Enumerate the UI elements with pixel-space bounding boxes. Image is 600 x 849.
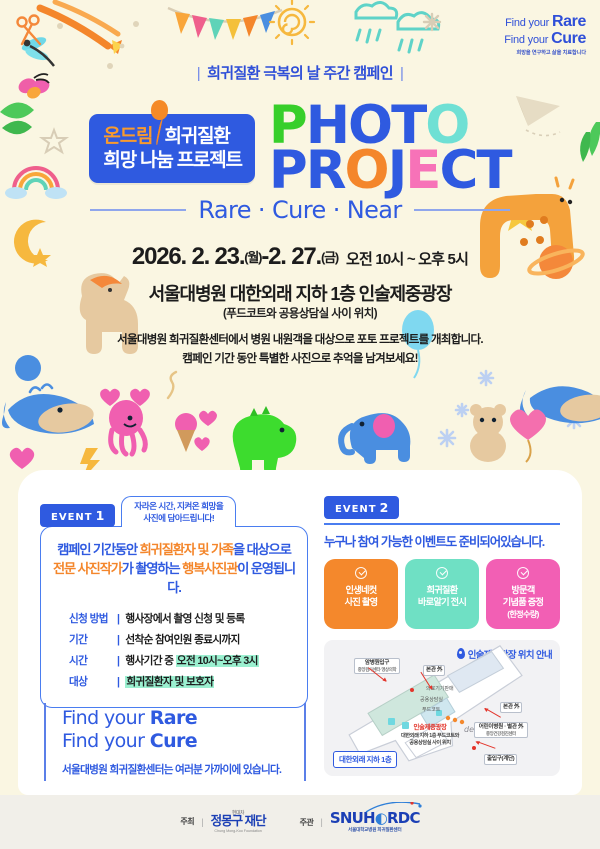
- map-label-3: 어린이병원 · 별관 外 중앙건강검진센터: [474, 722, 528, 738]
- map-label-0: 암병원입구 중앙검사센터·영상의학: [354, 658, 400, 674]
- event1-detail-highlight: 오전 10시~오후 3시: [176, 655, 259, 667]
- footer-organizer: 주관 | SNUH◐RDC 서울대학교병원 희귀질환센터: [300, 811, 420, 833]
- event2-chip: 희귀질환바로알기 전시: [405, 559, 479, 629]
- kicker-text: 희귀질환 극복의 날 주간 캠페인: [207, 65, 393, 82]
- kicker-bar-left: |: [197, 65, 200, 82]
- event1-detail-row: 시간|행사기간 중 오전 10시~오후 3시: [69, 651, 297, 672]
- footer: 주최 | 현대차 정몽구 재단 Chung Mong-Koo Foundatio…: [0, 795, 600, 849]
- event1-detail-separator: |: [117, 672, 119, 693]
- map-label-4-text: 출입구(계단): [487, 756, 514, 762]
- event1-detail-key: 신청 방법: [69, 609, 115, 630]
- ondream-line-1-rest: 희귀질환: [165, 126, 230, 147]
- octopus-doodle: [109, 400, 145, 454]
- map-label-2-text: 본관 外: [503, 704, 519, 710]
- title-row: 온드림 희귀질환 희망 나눔 프로젝트 PHOTO PROJECT: [0, 104, 600, 193]
- sun-doodle: [270, 0, 314, 44]
- slogan-line-1: Find your Rare: [62, 707, 290, 730]
- event1-detail-key: 대상: [69, 672, 115, 693]
- wordmark-letter-o-2: O: [345, 149, 388, 194]
- event2-column: EVENT2 누구나 참여 가능한 이벤트도 준비되어있습니다. 인생네컷사진 …: [324, 496, 560, 795]
- ondream-line-1: 온드림 희귀질환: [103, 125, 241, 148]
- snuh-swoosh-icon: [362, 802, 426, 814]
- event1-lead: 캠페인 기간동안 희귀질환자 및 가족을 대상으로 전문 사진작가가 촬영하는 …: [51, 540, 297, 597]
- map-label-3-text: 어린이병원 · 별관 外: [479, 724, 524, 730]
- slogan-line-3: 서울대병원 희귀질환센터는 여러분 가까이에 있습니다.: [62, 762, 290, 777]
- event1-badge-label: EVENT: [51, 512, 93, 523]
- balloon-icon: [151, 100, 168, 120]
- map-floor-tag: 대한외래 지하 1층: [333, 751, 397, 768]
- map-grey-1: 공용상담실: [420, 697, 443, 703]
- event1-badge-number: 1: [96, 508, 106, 523]
- blurb-line-2: 캠페인 기간 동안 특별한 사진으로 추억을 남겨보세요!: [182, 353, 417, 365]
- event1-lead-hi-2: 전문 사진작가: [53, 561, 122, 576]
- event1-tab-line-2: 사진에 담아드립니다!: [134, 513, 223, 525]
- slogan-line-1-bold: Rare: [150, 707, 197, 729]
- event2-chip-line-2: 기념품 증정: [488, 596, 558, 608]
- ondream-logo-box: 온드림 희귀질환 희망 나눔 프로젝트: [89, 114, 254, 182]
- event1-column: EVENT1 자라온 시간, 지켜온 희망을 사진에 담아드립니다! 캠페인 기…: [40, 496, 308, 795]
- event2-chip-line-3: (한정수량): [488, 609, 558, 620]
- event1-detail-value: 행사기간 중 오전 10시~오후 3시: [125, 651, 258, 672]
- snuh-sub: 서울대학교병원 희귀질환센터: [330, 828, 420, 833]
- brand-line-2-bold: Cure: [551, 30, 586, 47]
- slogan-line-1-light: Find your: [62, 707, 144, 729]
- event1-lead-1: 캠페인 기간동안: [57, 542, 137, 557]
- map-highlight: 인술제중광장 대한외래 지하 1층 푸드코트와 공용상담실 사이 위치: [382, 724, 478, 747]
- footer-host-bar: |: [201, 817, 203, 827]
- rain-cloud-doodle: [356, 2, 439, 52]
- event2-chip-line-2: 바로알기 전시: [407, 596, 477, 608]
- event1-detail-separator: |: [117, 609, 119, 630]
- event-venue-sub: (푸드코트와 공용상담실 사이 위치): [0, 305, 600, 321]
- wordmark-letter-e-4: E: [405, 149, 439, 194]
- event1-detail-row: 신청 방법|행사장에서 촬영 신청 및 등록: [69, 609, 297, 630]
- project-row: PROJECT: [269, 149, 511, 194]
- bunting-doodle: [168, 8, 282, 40]
- event1-tab: 자라온 시간, 지켜온 희망을 사진에 담아드립니다!: [121, 496, 236, 527]
- cmk-name: 정몽구 재단: [211, 815, 266, 828]
- map-highlight-sub-2: 공용상담실 사이 위치: [409, 740, 450, 746]
- event1-detail-separator: |: [117, 651, 119, 672]
- slogan-block: Find your Rare Find your Cure 서울대병원 희귀질환…: [44, 703, 306, 781]
- event2-badge-label: EVENT: [335, 504, 377, 515]
- event1-detail-key: 시간: [69, 651, 115, 672]
- squiggle-doodle: [168, 372, 176, 398]
- footer-org-bar: |: [321, 817, 323, 827]
- slogan-line-2-light: Find your: [62, 730, 144, 752]
- poster-root: Find your Rare Find your Cure 희망을 연구하고 삶…: [0, 0, 600, 849]
- ondream-line-2: 희망 나눔 프로젝트: [103, 149, 241, 172]
- icecream-doodle: [175, 413, 197, 452]
- whale-doodle: [2, 385, 96, 437]
- map-label-0-text: 암병원입구: [365, 660, 389, 666]
- scissors-doodle: [18, 16, 41, 45]
- event1-detail-highlight: 희귀질환자 및 보호자: [125, 676, 214, 688]
- map-label-4: 출입구(계단): [484, 754, 517, 765]
- event1-lead-hi-1: 희귀질환자 및 가족: [140, 542, 233, 557]
- event1-box: 캠페인 기간동안 희귀질환자 및 가족을 대상으로 전문 사진작가가 촬영하는 …: [40, 526, 308, 708]
- event2-chip-label: 인생네컷사진 촬영: [326, 584, 396, 609]
- check-circle-icon: [355, 567, 367, 579]
- elephant-doodle: [341, 413, 410, 464]
- map-label-0-sub: 중앙검사센터·영상의학: [357, 667, 397, 673]
- shooting-star-doodle: [40, 2, 123, 54]
- event1-lead-2: 을 대상으로: [233, 542, 291, 557]
- tagline-text: Rare · Cure · Near: [198, 196, 401, 224]
- event1-lead-3: 가 촬영하는: [122, 561, 180, 576]
- date-start: 2026. 2. 23.: [132, 243, 244, 270]
- footer-host: 주최 | 현대차 정몽구 재단 Chung Mong-Koo Foundatio…: [180, 811, 265, 834]
- event2-chip-label: 방문객기념품 증정(한정수량): [488, 584, 558, 620]
- heart-doodle: [10, 389, 217, 469]
- event1-detail-row: 대상|희귀질환자 및 보호자: [69, 672, 297, 693]
- date-day-start: (월): [244, 250, 261, 265]
- event2-header: EVENT2: [324, 496, 560, 525]
- footer-host-role: 주최: [180, 816, 194, 827]
- whale-doodle-2: [520, 386, 600, 424]
- event2-chip-line-1: 희귀질환: [407, 584, 477, 596]
- slogan-line-2: Find your Cure: [62, 730, 290, 753]
- footer-org-role: 주관: [300, 817, 314, 828]
- event2-chip-label: 희귀질환바로알기 전시: [407, 584, 477, 609]
- photo-project-wordmark: PHOTO PROJECT: [269, 104, 511, 193]
- event1-lead-hi-3: 행복사진관: [182, 561, 237, 576]
- event1-detail-key: 기간: [69, 630, 115, 651]
- map-label-3-sub: 중앙건강검진센터: [477, 731, 525, 737]
- check-circle-icon: [517, 567, 529, 579]
- event1-detail-separator: |: [117, 630, 119, 651]
- map-label-2: 본관 外: [500, 702, 522, 713]
- event1-detail-value: 행사장에서 촬영 신청 및 등록: [125, 609, 244, 630]
- wordmark-letter-j-3: J: [388, 149, 406, 194]
- asterisk-doodle: [424, 14, 440, 30]
- rare-cure-near-tagline: Rare · Cure · Near: [0, 196, 600, 224]
- map-highlight-sub-1: 대한외래 지하 1층 푸드코트와: [401, 733, 459, 739]
- brand-logo: Find your Rare Find your Cure 희망을 연구하고 삶…: [504, 14, 586, 56]
- venue-map: 인술제중광장 위치 안내: [324, 640, 560, 776]
- brand-line-1-light: Find your: [505, 17, 549, 29]
- event1-header: EVENT1 자라온 시간, 지켜온 희망을 사진에 담아드립니다!: [40, 496, 308, 527]
- event1-tab-line-1: 자라온 시간, 지켜온 희망을: [134, 501, 223, 513]
- event2-lead: 누구나 참여 가능한 이벤트도 준비되어있습니다.: [324, 534, 560, 550]
- wordmark-letter-r-1: R: [306, 149, 345, 194]
- brand-tagline: 희망을 연구하고 삶을 치료합니다: [504, 51, 586, 56]
- event2-rule: [324, 523, 560, 525]
- ondream-accent: 온드림: [103, 126, 152, 147]
- check-circle-icon: [436, 567, 448, 579]
- event2-chip-line-2: 사진 촬영: [326, 596, 396, 608]
- event-blurb: 서울대병원 희귀질환센터에서 병원 내원객을 대상으로 포토 프로젝트를 개최합…: [0, 331, 600, 369]
- event2-chip: 인생네컷사진 촬영: [324, 559, 398, 629]
- event-date: 2026. 2. 23.(월)-2. 27.(금)오전 10시 ~ 오후 5시: [0, 243, 600, 271]
- heart-balloon-doodle: [510, 409, 546, 462]
- asterisk-doodle-2: [439, 371, 582, 446]
- event2-badge-number: 2: [380, 500, 390, 515]
- wordmark-letter-c-5: C: [440, 149, 477, 194]
- event1-detail-row: 기간|선착순 참여인원 종료시까지: [69, 630, 297, 651]
- blurb-line-1: 서울대병원 희귀질환센터에서 병원 내원객을 대상으로 포토 프로젝트를 개최합…: [117, 334, 483, 346]
- kicker-bar-right: |: [400, 65, 403, 82]
- tagline-rule-left: [90, 209, 186, 211]
- brand-line-2-light: Find your: [504, 34, 548, 46]
- brand-line-1: Find your Rare: [504, 14, 586, 31]
- date-day-end: (금): [321, 250, 338, 265]
- slogan-line-2-bold: Cure: [150, 730, 197, 752]
- event1-detail-value: 희귀질환자 및 보호자: [125, 672, 214, 693]
- bear-doodle: [470, 404, 506, 462]
- map-highlight-text: 인술제중광장: [414, 724, 447, 731]
- event2-chip: 방문객기념품 증정(한정수량): [486, 559, 560, 629]
- wordmark-letter-t-6: T: [476, 149, 510, 194]
- tagline-rule-right: [414, 209, 510, 211]
- cmk-en: Chung Mong-Koo Foundation: [211, 829, 266, 833]
- map-label-1-text: 본관 外: [426, 667, 442, 673]
- card-columns: EVENT1 자라온 시간, 지켜온 희망을 사진에 담아드립니다! 캠페인 기…: [18, 470, 582, 795]
- campaign-kicker: |희귀질환 극복의 날 주간 캠페인|: [0, 62, 600, 83]
- map-grey-2: 푸드코트: [422, 707, 440, 713]
- event1-badge: EVENT1: [40, 504, 115, 527]
- event2-chip-line-1: 방문객: [488, 584, 558, 596]
- event2-chip-line-1: 인생네컷: [326, 584, 396, 596]
- wordmark-letter-p-0: P: [269, 149, 306, 194]
- event1-detail-value: 선착순 참여인원 종료시까지: [125, 630, 239, 651]
- brand-line-1-bold: Rare: [552, 13, 586, 30]
- date-end: 2. 27.: [268, 243, 321, 270]
- cmk-foundation-logo: 현대차 정몽구 재단 Chung Mong-Koo Foundation: [211, 811, 266, 834]
- snuh-rdc-logo: SNUH◐RDC 서울대학교병원 희귀질환센터: [330, 811, 420, 833]
- map-label-1: 본관 外: [423, 665, 445, 676]
- event2-badge: EVENT2: [324, 496, 399, 519]
- event2-chip-list: 인생네컷사진 촬영희귀질환바로알기 전시방문객기념품 증정(한정수량): [324, 559, 560, 629]
- event-time: 오전 10시 ~ 오후 5시: [346, 251, 468, 268]
- dino-doodle: [233, 406, 297, 474]
- event1-detail-list: 신청 방법|행사장에서 촬영 신청 및 등록기간|선착순 참여인원 종료시까지시…: [69, 609, 297, 694]
- brand-line-2: Find your Cure: [504, 31, 586, 48]
- content-card: EVENT1 자라온 시간, 지켜온 희망을 사진에 담아드립니다! 캠페인 기…: [18, 470, 582, 795]
- event-venue: 서울대병원 대한외래 지하 1층 인술제중광장: [0, 280, 600, 306]
